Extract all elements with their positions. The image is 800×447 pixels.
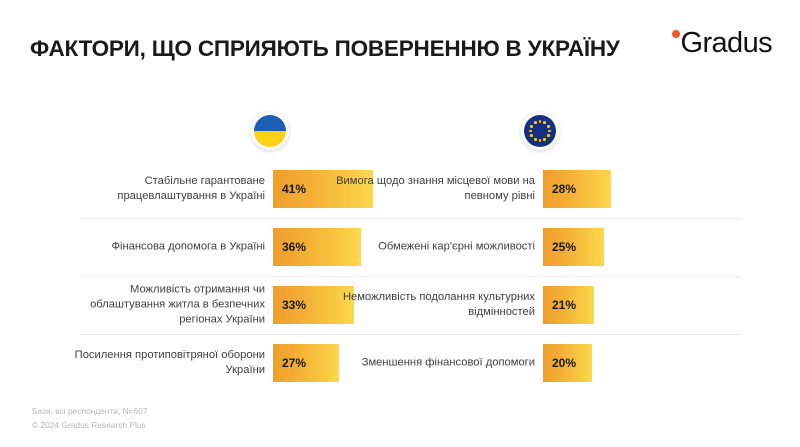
eu-flag-star-icon: [530, 125, 533, 128]
ukraine-flag-yellow-band: [254, 131, 286, 147]
bar-value: 33%: [273, 298, 306, 312]
flag-row: [0, 112, 800, 160]
bar: 20%: [543, 344, 592, 382]
footer: База: всі респонденти, N=607 © 2024 Grad…: [32, 404, 432, 432]
ukraine-flag-icon: [251, 112, 289, 150]
logo-dot-icon: [672, 30, 680, 38]
page-title: ФАКТОРИ, ЩО СПРИЯЮТЬ ПОВЕРНЕННЮ В УКРАЇН…: [30, 36, 620, 62]
ukraine-flag-blue-band: [254, 115, 286, 131]
chart-row: Стабільне гарантоване працевлаштування в…: [0, 160, 800, 219]
bar-item-eu-1: Обмежені кар'єрні можливості 25%: [330, 218, 680, 276]
row-rule-clip-right: [742, 160, 800, 218]
header: ФАКТОРИ, ЩО СПРИЯЮТЬ ПОВЕРНЕННЮ В УКРАЇН…: [0, 0, 800, 90]
bar-label: Посилення протиповітряної оборони Україн…: [60, 348, 273, 378]
bar-label: Неможливість подолання культурних відмін…: [330, 290, 543, 320]
bar-value: 27%: [273, 356, 306, 370]
bar: 28%: [543, 170, 611, 208]
eu-flag-star-icon: [547, 134, 550, 137]
row-rule-clip-right: [742, 334, 800, 392]
chart-row: Фінансова допомога в Україні 36% Обмежен…: [0, 218, 800, 277]
bar-label: Зменшення фінансової допомоги: [330, 356, 543, 371]
bar-item-eu-2: Неможливість подолання культурних відмін…: [330, 276, 680, 334]
logo-text: Gradus: [681, 27, 773, 59]
row-rule-clip-right: [742, 218, 800, 276]
bar-item-eu-0: Вимога щодо знання місцевої мови на певн…: [330, 160, 680, 218]
eu-flag-star-icon: [534, 138, 537, 141]
row-rule-clip-right: [742, 276, 800, 334]
bar-label: Обмежені кар'єрні можливості: [330, 240, 543, 255]
bar-value: 20%: [543, 356, 576, 370]
bar: 21%: [543, 286, 594, 324]
bar-item-eu-3: Зменшення фінансової допомоги 20%: [330, 334, 680, 392]
chart-row: Можливість отримання чи облаштування жит…: [0, 276, 800, 335]
bar-value: 41%: [273, 182, 306, 196]
bar-value: 28%: [543, 182, 576, 196]
bar-value: 21%: [543, 298, 576, 312]
bar-label: Стабільне гарантоване працевлаштування в…: [60, 174, 273, 204]
bar: 25%: [543, 228, 604, 266]
eu-flag-star-icon: [543, 138, 546, 141]
footer-base-note: База: всі респонденти, N=607: [32, 404, 432, 418]
eu-flag-inner: [524, 115, 556, 147]
footer-copyright: © 2024 Gradus Research Plus: [32, 418, 432, 432]
bar-value: 36%: [273, 240, 306, 254]
ukraine-flag-inner: [254, 115, 286, 147]
bar-value: 25%: [543, 240, 576, 254]
chart-row: Посилення протиповітряної оборони Україн…: [0, 334, 800, 392]
gradus-logo: Gradus: [672, 27, 773, 61]
eu-flag-icon: [521, 112, 559, 150]
eu-flag-star-icon: [547, 125, 550, 128]
bar-label: Фінансова допомога в Україні: [60, 240, 273, 255]
bar-label: Вимога щодо знання місцевої мови на певн…: [330, 174, 543, 204]
bar: 27%: [273, 344, 339, 382]
eu-flag-star-icon: [534, 121, 537, 124]
chart-body: Стабільне гарантоване працевлаштування в…: [0, 160, 800, 392]
bar-label: Можливість отримання чи облаштування жит…: [60, 283, 273, 328]
